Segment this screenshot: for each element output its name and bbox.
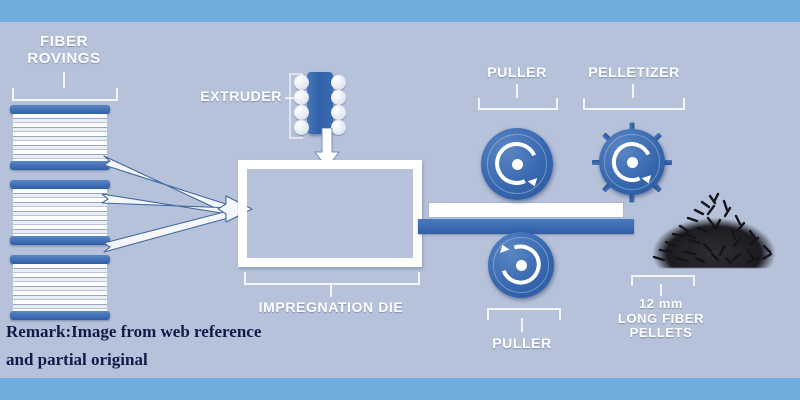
spool-cap-top xyxy=(10,105,110,114)
roller-arrow-tip xyxy=(528,178,540,188)
spool-winding xyxy=(13,264,107,311)
roller-hub xyxy=(627,157,638,168)
puller-bottom-label-stem xyxy=(521,318,523,332)
spool-winding xyxy=(13,189,107,236)
label-fiber-rovings: FIBER ROVINGS xyxy=(4,34,124,68)
remark-line-2: and partial original xyxy=(6,350,148,370)
spool-winding xyxy=(13,114,107,161)
diagram-canvas: FIBER ROVINGS EXTRUDER xyxy=(0,0,800,400)
spool-cap-bottom xyxy=(10,161,110,170)
puller-bottom-bracket xyxy=(487,308,561,320)
pellet-pile xyxy=(640,188,788,268)
pellets-label-stem xyxy=(660,284,662,296)
label-impregnation-die: IMPREGNATION DIE xyxy=(236,300,426,316)
fiber-rovings-label-stem xyxy=(63,72,65,88)
label-extruder-text: EXTRUDER xyxy=(200,88,282,104)
fiber-roving-spool[interactable] xyxy=(10,180,110,245)
extruder-bead xyxy=(331,90,346,105)
extruder-bead xyxy=(294,90,309,105)
label-impregnation-die-text: IMPREGNATION DIE xyxy=(259,299,404,315)
roller-hub xyxy=(516,260,527,271)
impregnation-die[interactable] xyxy=(238,160,422,267)
pelletizer-bracket xyxy=(583,98,685,110)
puller-roller-bottom[interactable] xyxy=(488,232,554,298)
extruder[interactable] xyxy=(307,72,333,134)
spool-cap-bottom xyxy=(10,311,110,320)
extruder-bead xyxy=(331,75,346,90)
label-puller-top-text: PULLER xyxy=(487,64,547,80)
label-pellets-line1: 12 mm xyxy=(600,297,722,312)
fiber-roving-spool[interactable] xyxy=(10,105,110,170)
extruder-bead xyxy=(294,105,309,120)
spool-cap-bottom xyxy=(10,236,110,245)
remark-line-1: Remark:Image from web reference xyxy=(6,322,261,342)
label-pellets-line2: LONG FIBER xyxy=(600,312,722,327)
label-puller-bottom: PULLER xyxy=(467,336,577,352)
extruder-bead xyxy=(294,75,309,90)
label-fiber-rovings-line1: FIBER xyxy=(4,34,124,51)
bottom-color-band xyxy=(0,378,800,400)
puller-top-label-stem xyxy=(516,84,518,98)
label-pellets: 12 mm LONG FIBER PELLETS xyxy=(600,297,722,341)
extruder-bead xyxy=(294,120,309,135)
spool-cap-top xyxy=(10,255,110,264)
impregnation-die-bracket xyxy=(244,272,420,285)
pelletizer-body xyxy=(599,129,665,195)
label-fiber-rovings-line2: ROVINGS xyxy=(4,51,124,68)
pelletizer-label-stem xyxy=(632,84,634,98)
impregnation-die-label-stem xyxy=(330,283,332,297)
fiber-strand xyxy=(428,202,624,218)
top-color-band xyxy=(0,0,800,22)
label-puller-bottom-text: PULLER xyxy=(492,335,552,351)
fiber-rovings-bracket xyxy=(12,88,118,101)
pellet-flecks xyxy=(640,188,788,268)
extruder-bead xyxy=(331,105,346,120)
puller-roller-top[interactable] xyxy=(481,128,553,200)
label-pelletizer-text: PELLETIZER xyxy=(588,64,680,80)
pellets-bracket xyxy=(631,275,695,286)
label-puller-top: PULLER xyxy=(462,65,572,81)
spool-cap-top xyxy=(10,180,110,189)
fiber-feed-arrows xyxy=(100,150,260,265)
label-extruder: EXTRUDER xyxy=(186,89,282,105)
puller-top-bracket xyxy=(478,98,558,110)
fiber-roving-spool[interactable] xyxy=(10,255,110,320)
label-pellets-line3: PELLETS xyxy=(600,326,722,341)
roller-arrow-tip xyxy=(642,175,654,185)
roller-hub xyxy=(512,159,523,170)
label-pelletizer: PELLETIZER xyxy=(564,65,704,81)
